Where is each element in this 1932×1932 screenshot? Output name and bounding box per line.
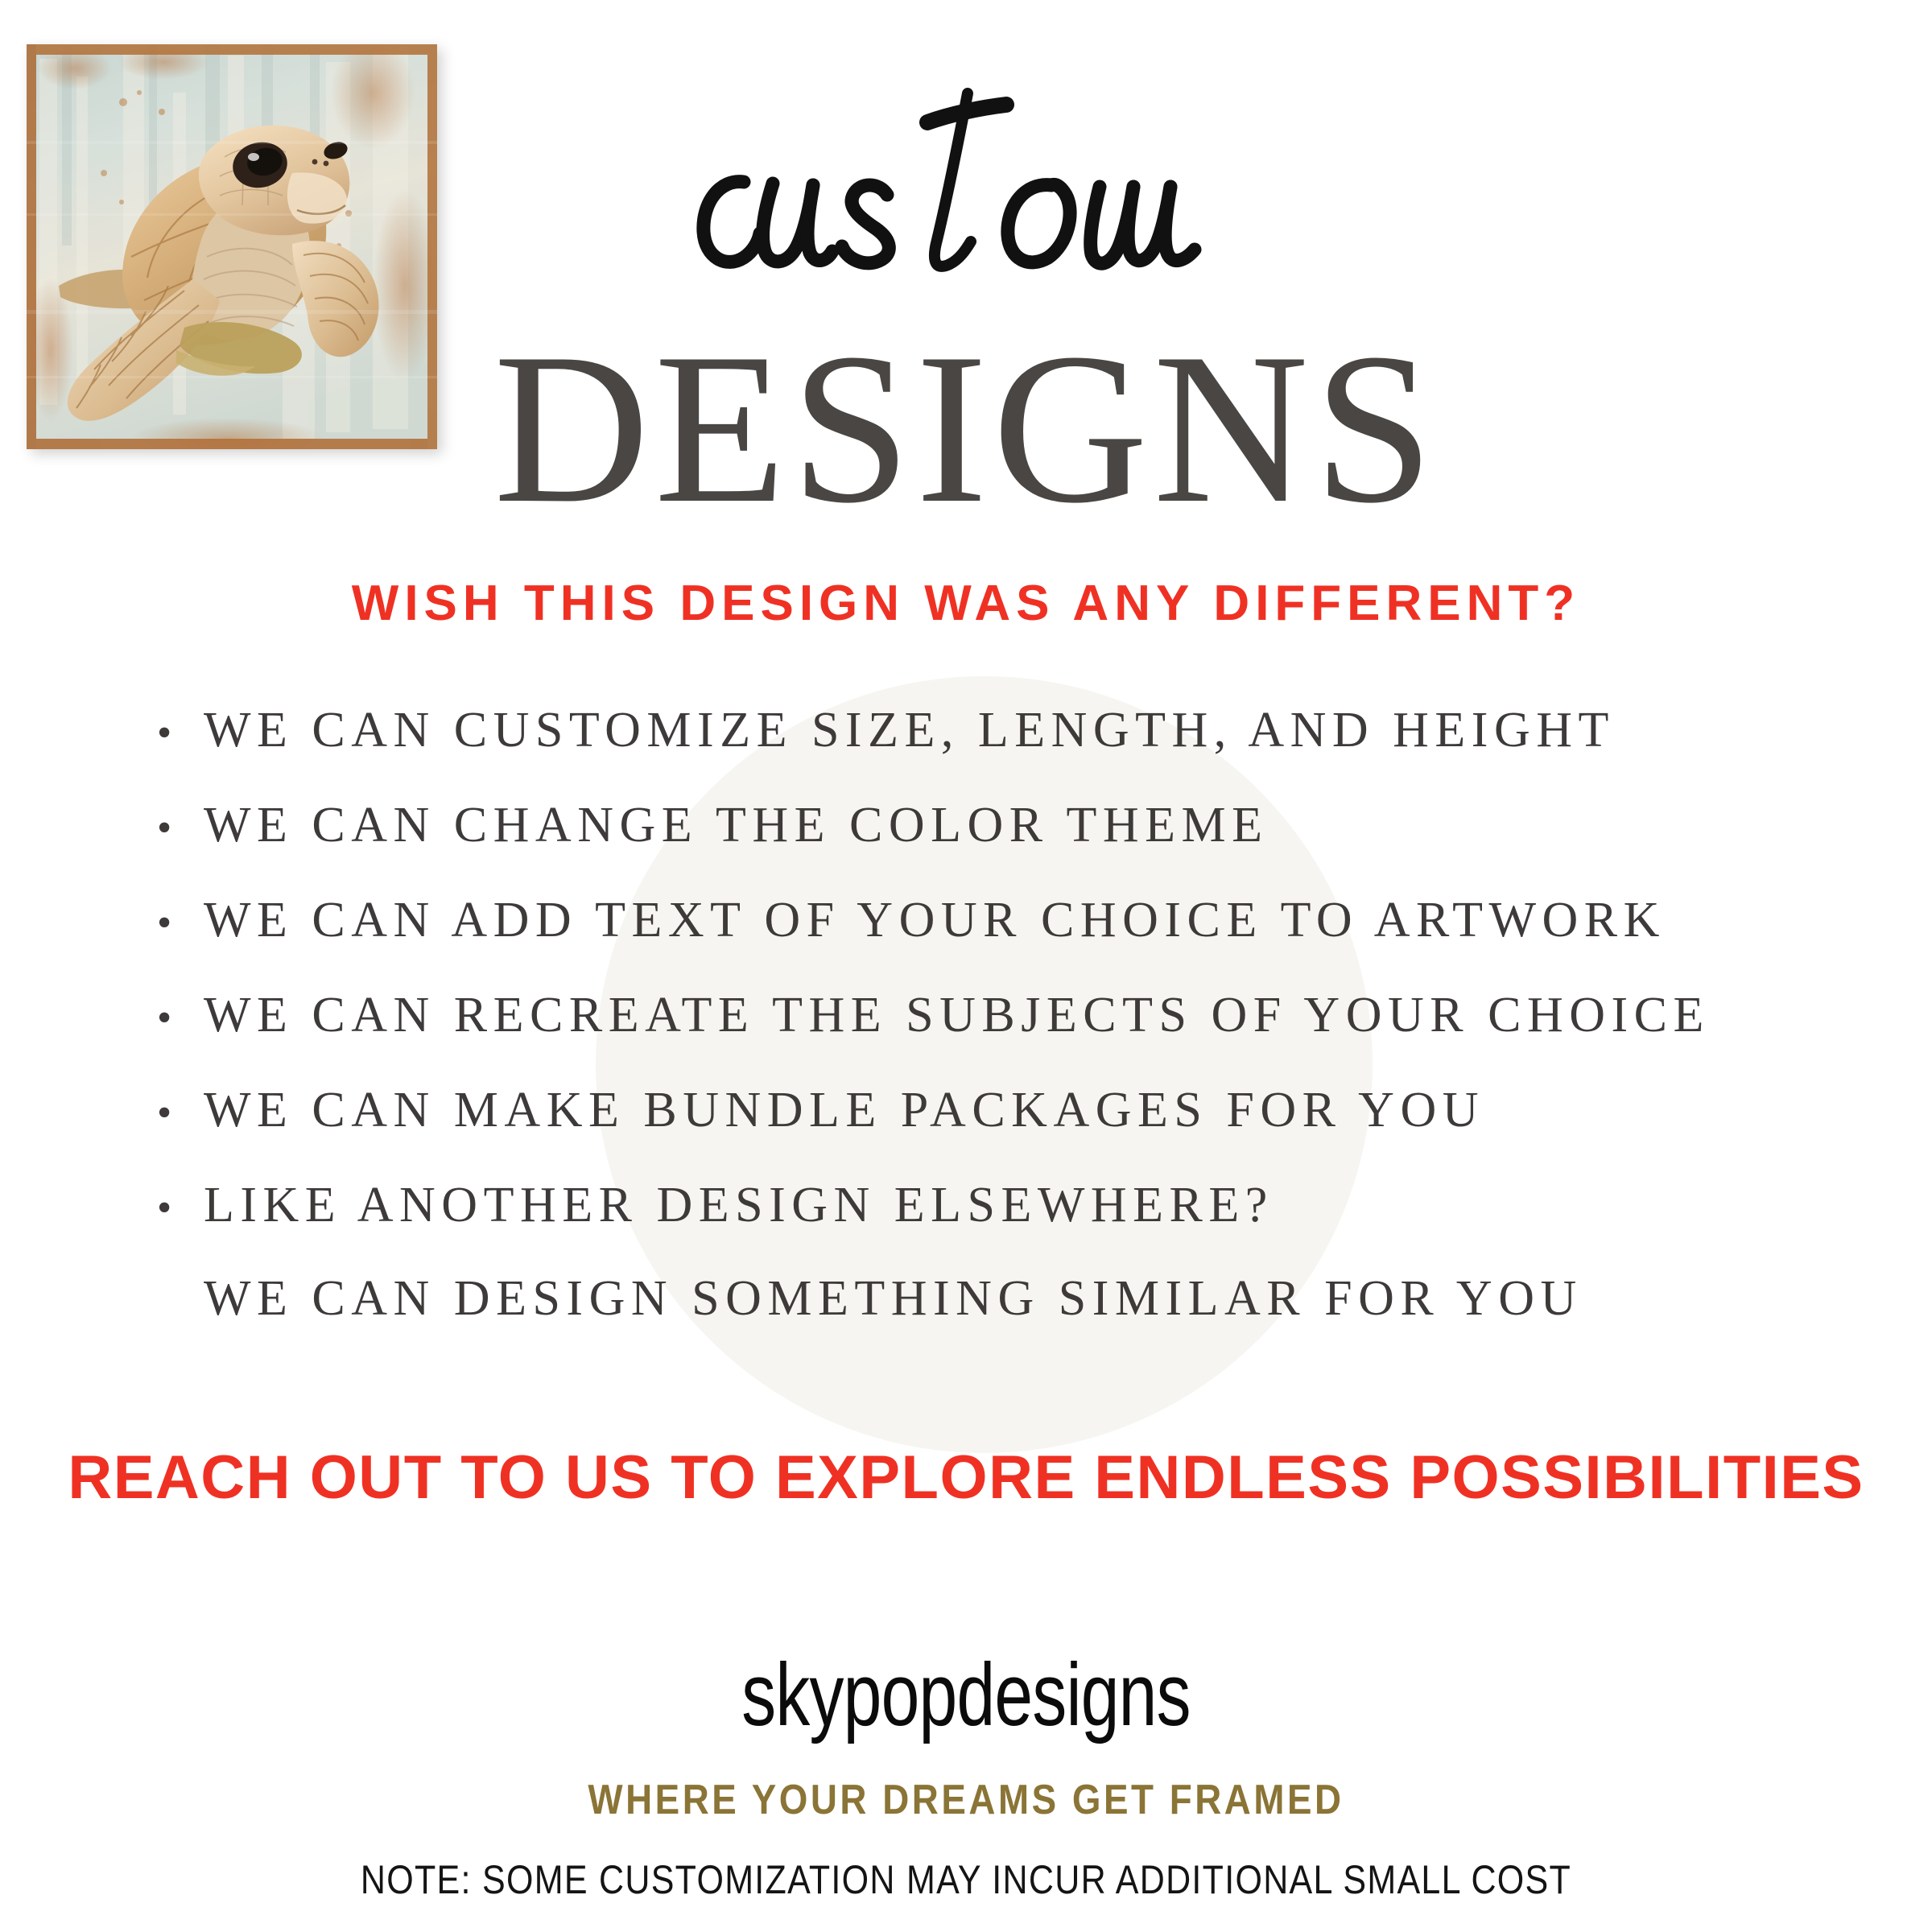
subtitle-question: WISH THIS DESIGN WAS ANY DIFFERENT? <box>0 575 1932 632</box>
feature-label: WE CAN RECREATE THE SUBJECTS OF YOUR CHO… <box>204 987 1710 1044</box>
sea-turtle-painting-image <box>27 44 437 449</box>
bullet-dot-icon: • <box>157 997 204 1039</box>
bullet-dot-icon: • <box>157 902 204 944</box>
list-item: • WE CAN MAKE BUNDLE PACKAGES FOR YOU <box>157 1082 1847 1177</box>
feature-continuation-line: WE CAN DESIGN SOMETHING SIMILAR FOR YOU <box>204 1270 1583 1327</box>
feature-label: LIKE ANOTHER DESIGN ELSEWHERE? <box>204 1177 1274 1234</box>
custom-script-headline <box>660 87 1288 296</box>
custom-handwritten-lettering <box>660 87 1288 296</box>
list-item: • WE CAN CUSTOMIZE SIZE, LENGTH, AND HEI… <box>157 702 1847 797</box>
feature-list: • WE CAN CUSTOMIZE SIZE, LENGTH, AND HEI… <box>157 702 1847 1272</box>
bullet-dot-icon: • <box>157 1187 204 1229</box>
list-item: • WE CAN RECREATE THE SUBJECTS OF YOUR C… <box>157 987 1847 1082</box>
feature-label: WE CAN CHANGE THE COLOR THEME <box>204 797 1269 854</box>
list-item: • WE CAN CHANGE THE COLOR THEME <box>157 797 1847 892</box>
bullet-dot-icon: • <box>157 712 204 754</box>
feature-label: WE CAN CUSTOMIZE SIZE, LENGTH, AND HEIGH… <box>204 702 1615 759</box>
brand-logo-wordmark: skypopdesigns <box>213 1644 1719 1746</box>
bullet-dot-icon: • <box>157 1092 204 1134</box>
list-item: • LIKE ANOTHER DESIGN ELSEWHERE? <box>157 1177 1847 1272</box>
feature-label: WE CAN ADD TEXT OF YOUR CHOICE TO ARTWOR… <box>204 892 1666 949</box>
footer-note: NOTE: SOME CUSTOMIZATION MAY INCUR ADDIT… <box>135 1856 1797 1903</box>
feature-label: WE CAN MAKE BUNDLE PACKAGES FOR YOU <box>204 1082 1484 1139</box>
brand-tagline: WHERE YOUR DREAMS GET FRAMED <box>116 1776 1816 1824</box>
sea-turtle-artwork-thumbnail[interactable] <box>27 44 437 449</box>
bullet-dot-icon: • <box>157 807 204 849</box>
list-item: • WE CAN ADD TEXT OF YOUR CHOICE TO ARTW… <box>157 892 1847 987</box>
call-to-action-text: REACH OUT TO US TO EXPLORE ENDLESS POSSI… <box>0 1443 1932 1513</box>
promo-graphic: DESIGNS WISH THIS DESIGN WAS ANY DIFFERE… <box>0 0 1932 1932</box>
